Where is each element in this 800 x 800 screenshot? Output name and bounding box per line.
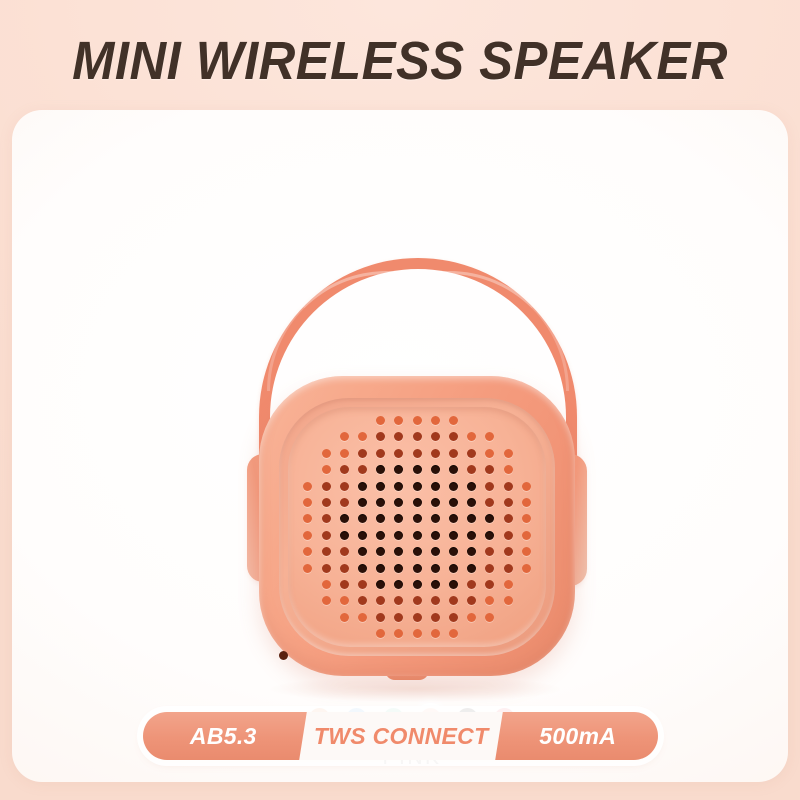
grille-dot: [449, 596, 458, 605]
grille-dot: [449, 629, 458, 638]
grille-dot: [431, 432, 440, 441]
grille-dot: [358, 514, 367, 523]
grille-dot: [394, 564, 403, 573]
grille-dot: [303, 498, 312, 507]
speaker-face-rim: [279, 398, 555, 656]
grille-dot: [322, 596, 331, 605]
grille-dot: [413, 531, 422, 540]
grille-dot: [504, 482, 513, 491]
grille-dot: [467, 432, 476, 441]
grille-dot: [340, 580, 349, 589]
grille-dot: [303, 531, 312, 540]
grille-dot: [376, 449, 385, 458]
grille-dot: [413, 482, 422, 491]
grille-dot: [303, 564, 312, 573]
grille-dot: [485, 482, 494, 491]
grille-dot: [358, 482, 367, 491]
grille-dot: [431, 596, 440, 605]
grille-dot: [504, 465, 513, 474]
grille-dot: [376, 482, 385, 491]
grille-dot: [449, 498, 458, 507]
grille-dot: [467, 514, 476, 523]
grille-dot: [485, 596, 494, 605]
grille-dot: [449, 531, 458, 540]
grille-dot: [358, 432, 367, 441]
feature-battery-capacity: 500mA: [497, 712, 658, 760]
grille-dot: [413, 449, 422, 458]
grille-dot: [431, 629, 440, 638]
grille-dot: [485, 498, 494, 507]
grille-dot: [504, 547, 513, 556]
grille-dot: [376, 629, 385, 638]
grille-dot: [413, 547, 422, 556]
page-title: MINI WIRELESS SPEAKER: [24, 30, 776, 92]
grille-dot: [467, 482, 476, 491]
grille-dot: [394, 514, 403, 523]
grille-dot: [322, 547, 331, 556]
grille-dot: [522, 498, 531, 507]
grille-dot: [376, 465, 385, 474]
grille-dot: [485, 514, 494, 523]
grille-dot: [322, 564, 331, 573]
grille-dot: [504, 498, 513, 507]
grille-dot: [431, 498, 440, 507]
grille-dot: [340, 432, 349, 441]
grille-dot: [394, 498, 403, 507]
grille-dot: [504, 596, 513, 605]
grille-dot: [522, 482, 531, 491]
grille-dot: [431, 547, 440, 556]
grille-dot: [485, 449, 494, 458]
grille-dot: [322, 580, 331, 589]
grille-dot: [376, 514, 385, 523]
grille-dot: [522, 531, 531, 540]
grille-dot: [394, 629, 403, 638]
grille-dot: [485, 465, 494, 474]
grille-dot: [504, 580, 513, 589]
grille-dot: [449, 482, 458, 491]
feature-tws-connect-label: TWS CONNECT: [313, 723, 488, 750]
grille-dot: [431, 564, 440, 573]
grille-dot: [376, 613, 385, 622]
grille-dot: [449, 416, 458, 425]
grille-dot: [431, 449, 440, 458]
grille-dot: [358, 564, 367, 573]
grille-dot: [394, 596, 403, 605]
grille-dot: [485, 613, 494, 622]
grille-dot: [322, 482, 331, 491]
grille-dot: [322, 514, 331, 523]
grille-dot: [322, 498, 331, 507]
grille-dot: [485, 580, 494, 589]
grille-dot: [413, 498, 422, 507]
grille-dot: [358, 465, 367, 474]
grille-dot: [340, 498, 349, 507]
grille-dot: [340, 482, 349, 491]
product-image-card: PINK: [12, 110, 788, 782]
grille-dot: [394, 613, 403, 622]
grille-dot: [394, 547, 403, 556]
speaker-face: [288, 407, 546, 647]
grille-dot: [485, 432, 494, 441]
grille-dot: [376, 547, 385, 556]
grille-dot: [431, 531, 440, 540]
grille-dot: [467, 547, 476, 556]
grille-dot: [413, 432, 422, 441]
grille-dot: [394, 465, 403, 474]
grille-dot: [340, 596, 349, 605]
grille-dot: [449, 564, 458, 573]
grille-dot: [413, 613, 422, 622]
grille-dot: [449, 580, 458, 589]
grille-dot: [431, 514, 440, 523]
grille-dot: [376, 498, 385, 507]
grille-dot: [413, 629, 422, 638]
grille-dot: [449, 613, 458, 622]
grille-dot: [449, 547, 458, 556]
product-ad-stage: MINI WIRELESS SPEAKER PINK AB5.3 TWS CON…: [0, 0, 800, 800]
grille-dot: [413, 564, 422, 573]
grille-dot: [322, 449, 331, 458]
grille-dot: [431, 416, 440, 425]
grille-dot: [303, 482, 312, 491]
grille-dot: [431, 465, 440, 474]
grille-dot: [394, 531, 403, 540]
grille-dot: [376, 531, 385, 540]
grille-dot: [522, 564, 531, 573]
grille-dot: [467, 580, 476, 589]
speaker-body: [259, 376, 575, 676]
grille-dot: [340, 514, 349, 523]
feature-tws-connect: TWS CONNECT: [299, 712, 502, 760]
grille-dot: [413, 580, 422, 589]
grille-dot: [467, 564, 476, 573]
feature-bluetooth-version: AB5.3: [143, 712, 304, 760]
grille-dot: [449, 514, 458, 523]
grille-dot: [413, 514, 422, 523]
grille-dot: [467, 531, 476, 540]
grille-dot: [376, 432, 385, 441]
grille-dot: [467, 498, 476, 507]
grille-dot: [431, 613, 440, 622]
grille-dot: [449, 449, 458, 458]
grille-dot: [358, 596, 367, 605]
grille-dot: [340, 449, 349, 458]
grille-dot: [485, 564, 494, 573]
grille-dot: [467, 465, 476, 474]
grille-dot: [322, 531, 331, 540]
grille-dot: [522, 514, 531, 523]
grille-dot: [413, 416, 422, 425]
grille-dot: [467, 596, 476, 605]
grille-dot: [394, 580, 403, 589]
grille-dot: [358, 531, 367, 540]
speaker-product-image: [237, 258, 597, 688]
grille-dot: [340, 564, 349, 573]
grille-dot: [376, 564, 385, 573]
grille-dot: [322, 465, 331, 474]
grille-dot: [340, 613, 349, 622]
grille-dot: [522, 547, 531, 556]
grille-dot: [340, 465, 349, 474]
grille-dot: [504, 531, 513, 540]
grille-dot: [413, 596, 422, 605]
grille-dot: [394, 416, 403, 425]
microphone-hole-icon: [279, 651, 288, 660]
grille-dot: [394, 482, 403, 491]
grille-dot: [303, 547, 312, 556]
grille-dot: [394, 432, 403, 441]
grille-dot: [449, 465, 458, 474]
grille-dot: [449, 432, 458, 441]
speaker-grille: [288, 407, 546, 647]
grille-dot: [340, 547, 349, 556]
grille-dot: [467, 449, 476, 458]
grille-dot: [376, 580, 385, 589]
grille-dot: [376, 416, 385, 425]
grille-dot: [504, 564, 513, 573]
grille-dot: [467, 613, 476, 622]
grille-dot: [303, 514, 312, 523]
grille-dot: [431, 580, 440, 589]
grille-dot: [413, 465, 422, 474]
grille-dot: [358, 498, 367, 507]
grille-dot: [504, 514, 513, 523]
grille-dot: [340, 531, 349, 540]
grille-dot: [394, 449, 403, 458]
grille-dot: [431, 482, 440, 491]
grille-dot: [358, 449, 367, 458]
grille-dot: [504, 449, 513, 458]
grille-dot: [376, 596, 385, 605]
grille-dot: [358, 580, 367, 589]
grille-dot: [485, 547, 494, 556]
grille-dot: [358, 547, 367, 556]
grille-dot: [358, 613, 367, 622]
feature-highlight-bar: AB5.3 TWS CONNECT 500mA: [143, 712, 658, 760]
grille-dot: [485, 531, 494, 540]
